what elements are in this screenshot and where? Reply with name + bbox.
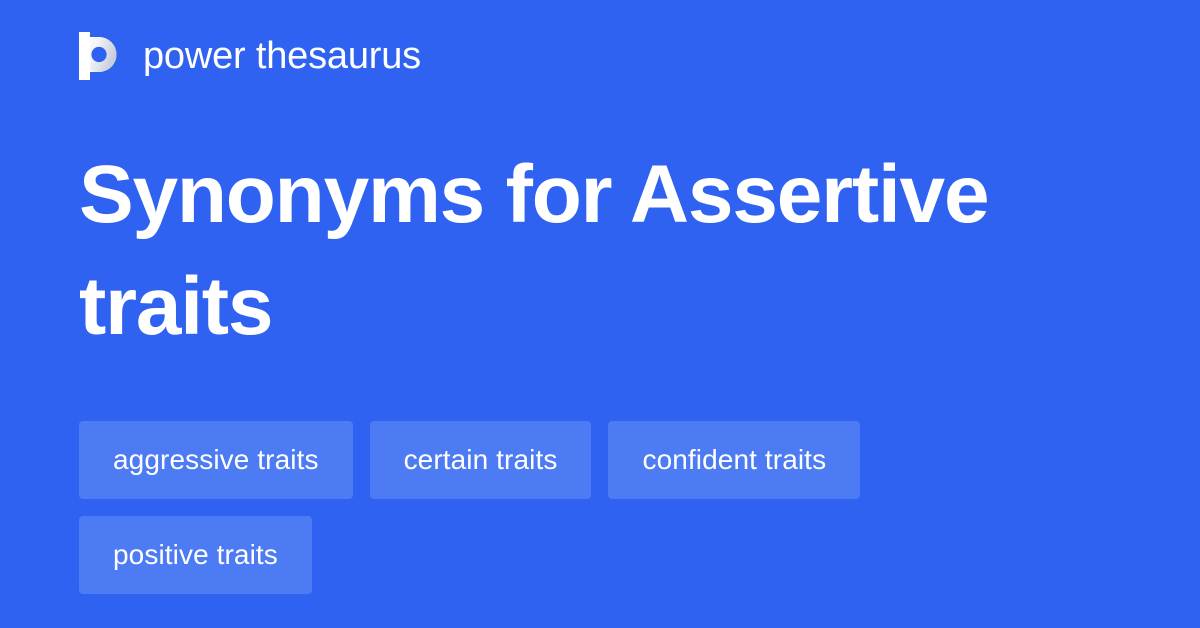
tag-chip[interactable]: certain traits bbox=[370, 421, 592, 499]
brand-name: power thesaurus bbox=[143, 37, 421, 75]
brand-header[interactable]: power thesaurus bbox=[79, 30, 421, 82]
tag-chip[interactable]: positive traits bbox=[79, 516, 312, 594]
tag-chip[interactable]: aggressive traits bbox=[79, 421, 353, 499]
share-card: power thesaurus Synonyms for Assertive t… bbox=[0, 0, 1200, 628]
related-tags-list: aggressive traits certain traits confide… bbox=[79, 421, 1089, 594]
power-thesaurus-b-mark-icon bbox=[79, 32, 123, 80]
page-title: Synonyms for Assertive traits bbox=[79, 139, 1089, 363]
tag-chip[interactable]: confident traits bbox=[608, 421, 860, 499]
